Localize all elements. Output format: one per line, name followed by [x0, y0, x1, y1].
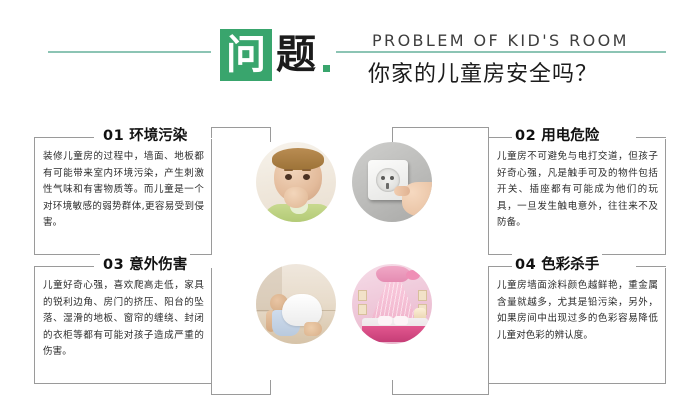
card-title-dash: [636, 266, 666, 267]
crawling-toddler-illustration: [256, 264, 336, 344]
card-connector-horizontal-02: [392, 127, 489, 128]
card-connector-vertical-01: [211, 127, 212, 138]
card-heading-01: 环境污染: [129, 128, 187, 144]
eyebrow-left: [284, 169, 293, 171]
card-number-03: 03: [103, 257, 124, 273]
wall-frame-2: [358, 304, 367, 315]
eye-left: [285, 174, 292, 180]
page-header: 问 题 PROBLEM OF KID'S ROOM 你家的儿童房安全吗？: [0, 0, 700, 104]
hair-shape: [272, 148, 324, 170]
card-body-03: 儿童好奇心强，喜欢爬高走低，家具的锐利边角、房门的挤压、阳台的坠落、湿滑的地板、…: [43, 278, 204, 361]
card-body-01: 装修儿童房的过程中，墙面、地板都有可能带来室内环境污染，产生刺激性气味和有害物质…: [43, 149, 204, 232]
card-title-01: 01 环境污染: [100, 125, 190, 147]
header-chinese-title: 你家的儿童房安全吗？: [368, 56, 598, 88]
card-title-dash: [636, 137, 666, 138]
header-accent-dot: [323, 65, 330, 72]
canopy-bow: [406, 270, 420, 280]
card-number-01: 01: [103, 128, 124, 144]
pillow-left: [378, 316, 392, 325]
wall-frame-1: [358, 290, 367, 301]
socket-illustration: [352, 142, 432, 222]
duvet-shape: [362, 326, 428, 342]
card-heading-03: 意外伤害: [129, 257, 187, 273]
card-title-02: 02 用电危险: [512, 125, 602, 147]
baby-nose-illustration: [256, 142, 336, 222]
pillow-right: [394, 316, 408, 325]
info-card-03: 03 意外伤害 儿童好奇心强，喜欢爬高走低，家具的锐利边角、房门的挤压、阳台的坠…: [34, 266, 212, 384]
card-title-03: 03 意外伤害: [100, 254, 190, 276]
card-title-04: 04 色彩杀手: [512, 254, 602, 276]
header-logo-badge: 问: [220, 29, 272, 81]
eye-right: [303, 174, 310, 180]
photo-baby-covering-nose: [256, 142, 336, 222]
card-connector-stub-02: [392, 127, 393, 142]
card-connector-stub-04: [392, 380, 393, 395]
card-connector-vertical-02: [488, 127, 489, 138]
canopy-crown: [376, 266, 410, 282]
photo-crawling-toddler: [256, 264, 336, 344]
card-number-04: 04: [515, 257, 536, 273]
finger-shape: [394, 186, 410, 196]
info-card-01: 01 环境污染 装修儿童房的过程中，墙面、地板都有可能带来室内环境污染，产生刺激…: [34, 137, 212, 255]
socket-ground-slot: [386, 183, 389, 189]
photo-hand-at-socket: [352, 142, 432, 222]
photo-pink-kids-bedroom: [352, 264, 432, 344]
card-title-dash: [58, 137, 88, 138]
header-title-char: 题: [276, 29, 316, 81]
eyebrow-right: [302, 169, 311, 171]
card-connector-stub-01: [270, 127, 271, 142]
card-title-dash: [58, 266, 88, 267]
header-english-title: PROBLEM OF KID'S ROOM: [368, 31, 633, 50]
socket-hole-left: [381, 176, 385, 180]
pink-bedroom-illustration: [352, 264, 432, 344]
card-connector-horizontal-03: [211, 394, 270, 395]
foot-shape: [304, 322, 322, 336]
card-heading-02: 用电危险: [541, 128, 599, 144]
card-heading-04: 色彩杀手: [541, 257, 599, 273]
info-card-04: 04 色彩杀手 儿童房墙面涂料颜色越鲜艳，重金属含量就越多，尤其是铅污染，另外，…: [488, 266, 666, 384]
wall-frame-3: [418, 290, 427, 301]
card-number-02: 02: [515, 128, 536, 144]
hand-shape: [284, 187, 308, 208]
info-card-02: 02 用电危险 儿童房不可避免与电打交道，但孩子好奇心强，凡是触手可及的物件包括…: [488, 137, 666, 255]
card-body-02: 儿童房不可避免与电打交道，但孩子好奇心强，凡是触手可及的物件包括开关、插座都有可…: [497, 149, 658, 232]
canopy-veil-stripes: [370, 278, 418, 322]
card-body-04: 儿童房墙面涂料颜色越鲜艳，重金属含量就越多，尤其是铅污染，另外，如果房间中出现过…: [497, 278, 658, 344]
header-rule-left: [48, 51, 211, 53]
socket-hole-right: [390, 176, 394, 180]
header-rule-right: [336, 51, 666, 53]
card-connector-horizontal-01: [211, 127, 270, 128]
card-connector-stub-03: [270, 380, 271, 395]
card-connector-horizontal-04: [392, 394, 489, 395]
